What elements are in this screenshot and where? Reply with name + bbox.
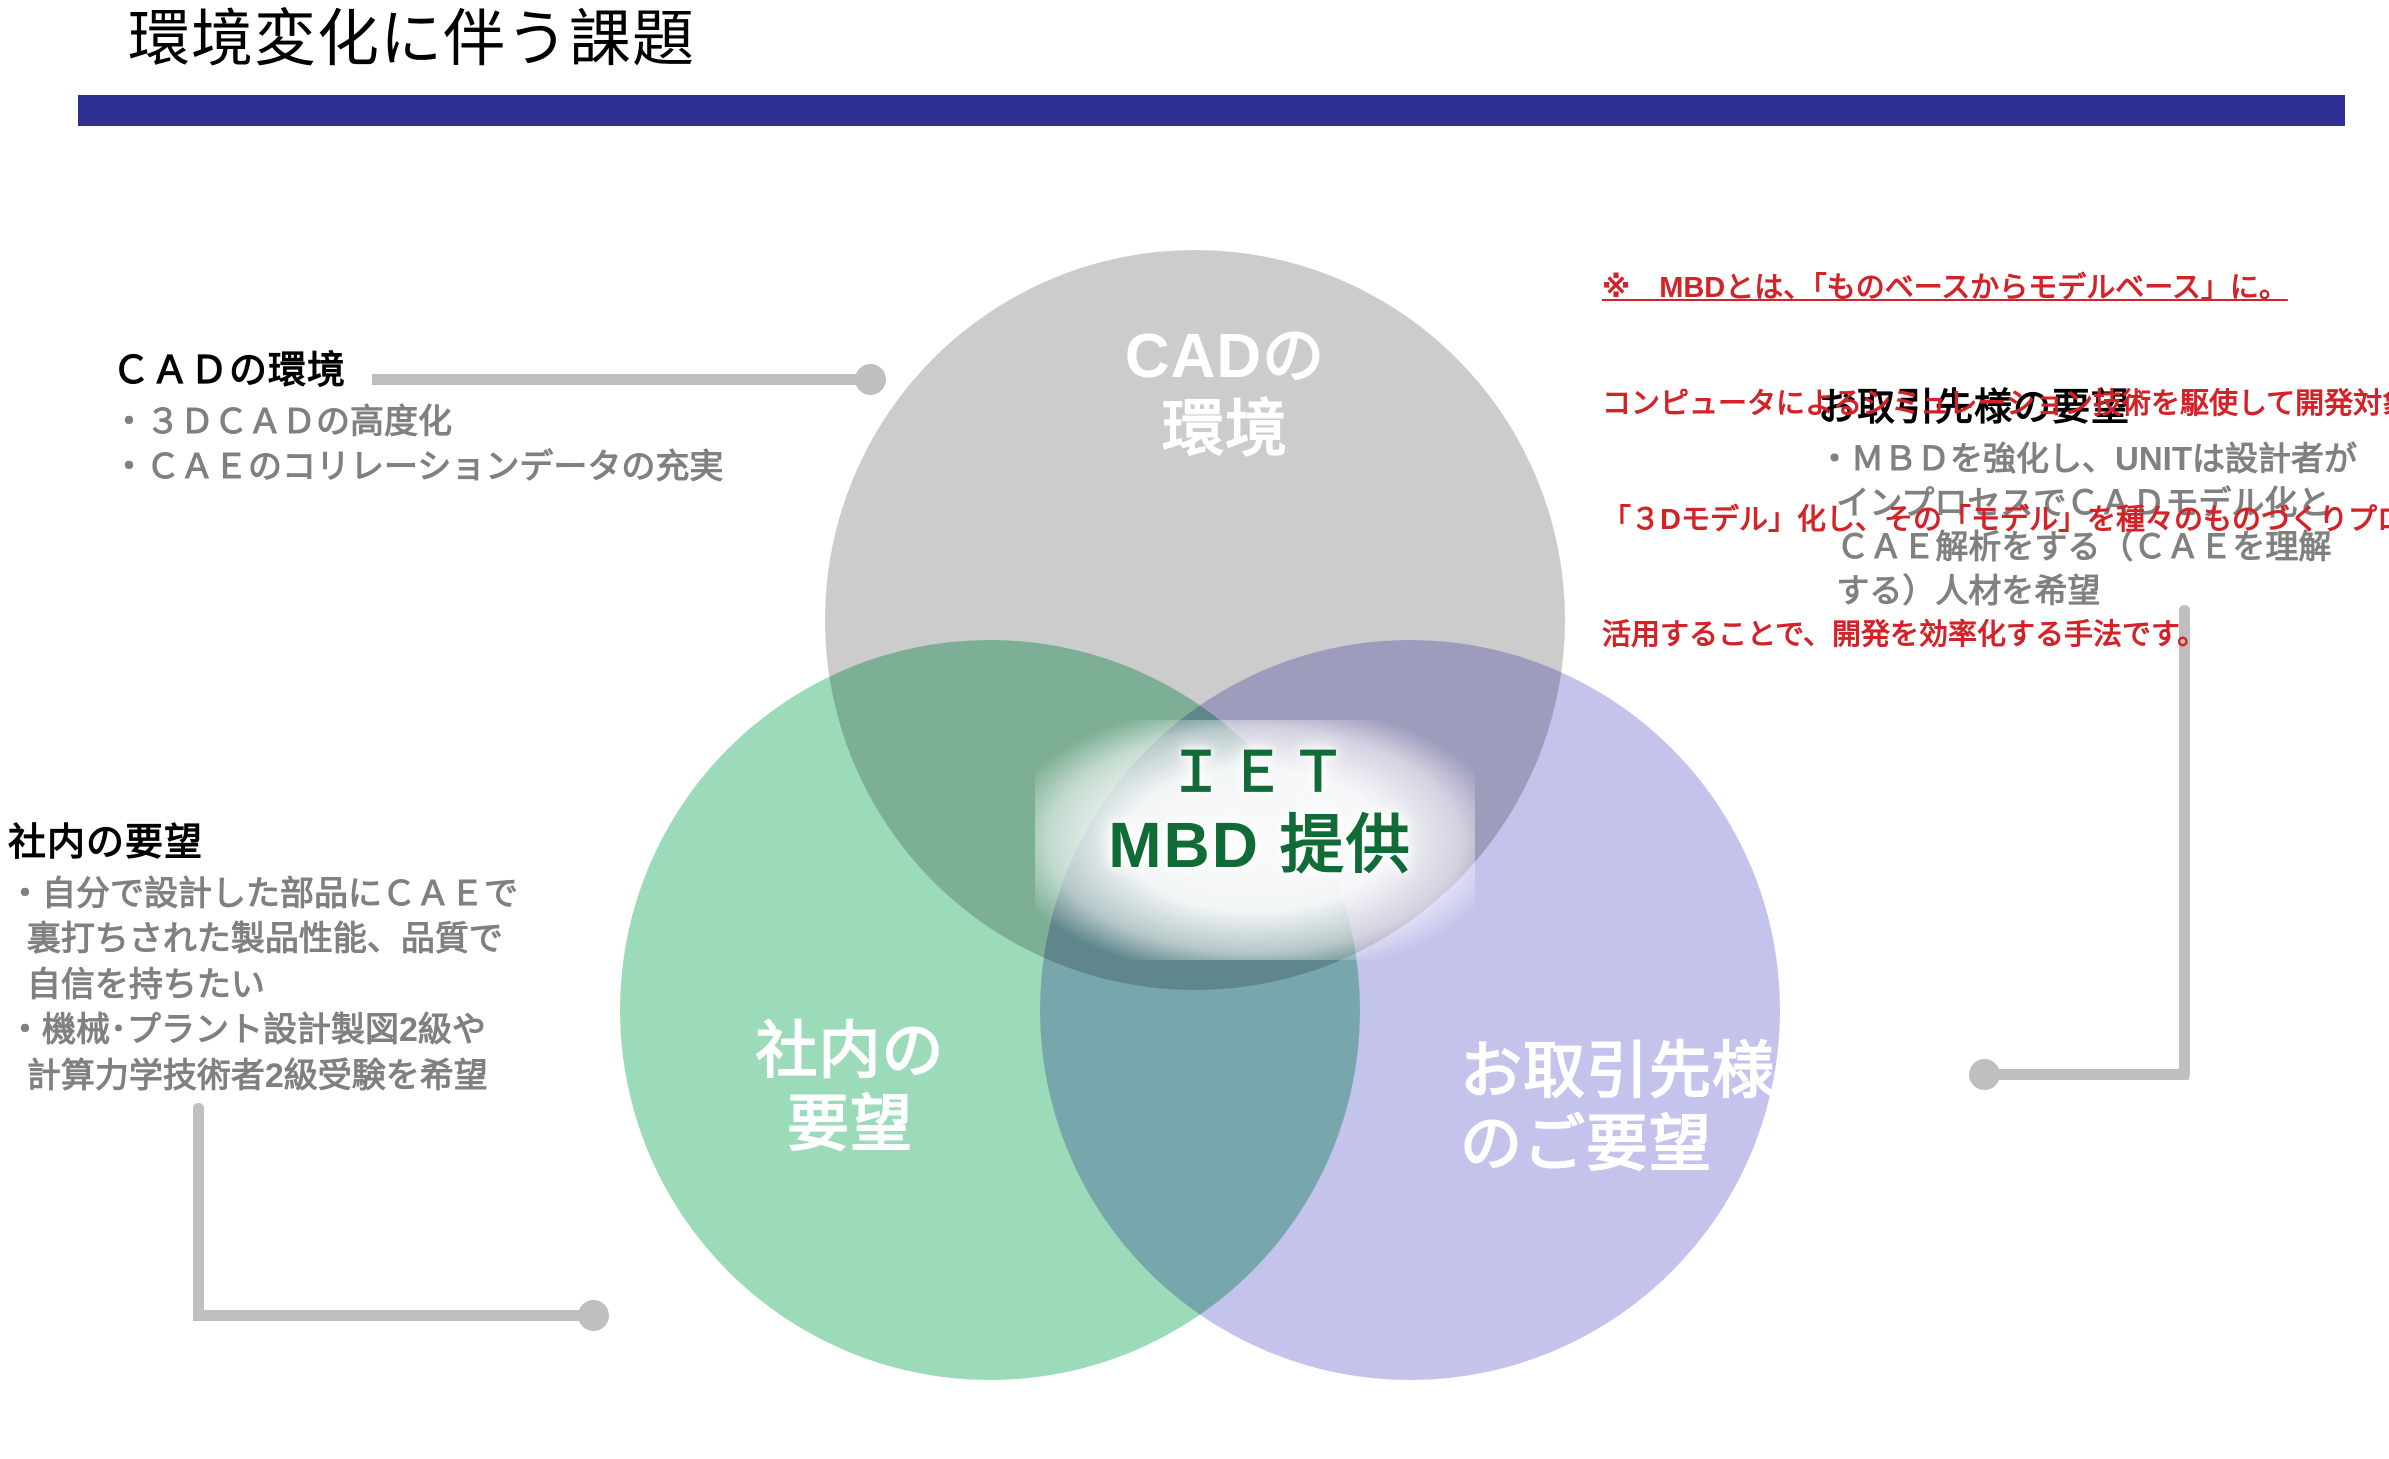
list-item: ・自分で設計した部品にＣＡＥで xyxy=(8,872,518,918)
note-line-4: 活用することで、開発を効率化する手法です。 xyxy=(1602,616,2389,655)
leader-line-internal-horizontal xyxy=(193,1310,593,1321)
venn-circle-client xyxy=(1040,640,1780,1380)
callout-internal-list: ・自分で設計した部品にＣＡＥで 裏打ちされた製品性能、品質で 自信を持ちたい ・… xyxy=(8,872,518,1100)
leader-line-internal-vertical xyxy=(193,1103,204,1321)
list-item: 裏打ちされた製品性能、品質で xyxy=(8,917,518,963)
list-item: ・ＣＡＥのコリレーションデータの充実 xyxy=(112,445,723,491)
leader-dot-client xyxy=(1969,1059,2000,1090)
callout-cad-heading: ＣＡＤの環境 xyxy=(112,348,723,396)
list-item: 自信を持ちたい xyxy=(8,963,518,1009)
list-item: ・機械･プラント設計製図2級や xyxy=(8,1008,518,1054)
leader-dot-cad xyxy=(855,364,886,395)
callout-cad-environment: ＣＡＤの環境 ・３ＤＣＡＤの高度化 ・ＣＡＥのコリレーションデータの充実 xyxy=(112,348,723,491)
note-line-3: 「３Dモデル」化し、その「モデル」を種々のものづくりプロセスに xyxy=(1602,501,2389,540)
callout-internal-requests: 社内の要望 ・自分で設計した部品にＣＡＥで 裏打ちされた製品性能、品質で 自信を… xyxy=(8,820,518,1099)
mbd-definition-note: ※ MBDとは、「ものベースからモデルベース」に。 コンピュータによるシミュレー… xyxy=(1602,192,2389,732)
leader-dot-internal xyxy=(578,1300,609,1331)
callout-internal-heading: 社内の要望 xyxy=(8,820,518,868)
list-item: 計算力学技術者2級受験を希望 xyxy=(8,1054,518,1100)
list-item: ・３ＤＣＡＤの高度化 xyxy=(112,400,723,446)
note-line-2: コンピュータによるシミュレーション技術を駆使して開発対象を xyxy=(1602,385,2389,424)
note-line-1: ※ MBDとは、「ものベースからモデルベース」に。 xyxy=(1602,269,2389,308)
callout-cad-list: ・３ＤＣＡＤの高度化 ・ＣＡＥのコリレーションデータの充実 xyxy=(112,400,723,491)
slide-canvas: 環境変化に伴う課題 CADの 環境 社内の 要望 お取引先様 のご要望 ＩＥＴ … xyxy=(0,0,2389,1459)
leader-line-client-horizontal xyxy=(1990,1069,2189,1080)
